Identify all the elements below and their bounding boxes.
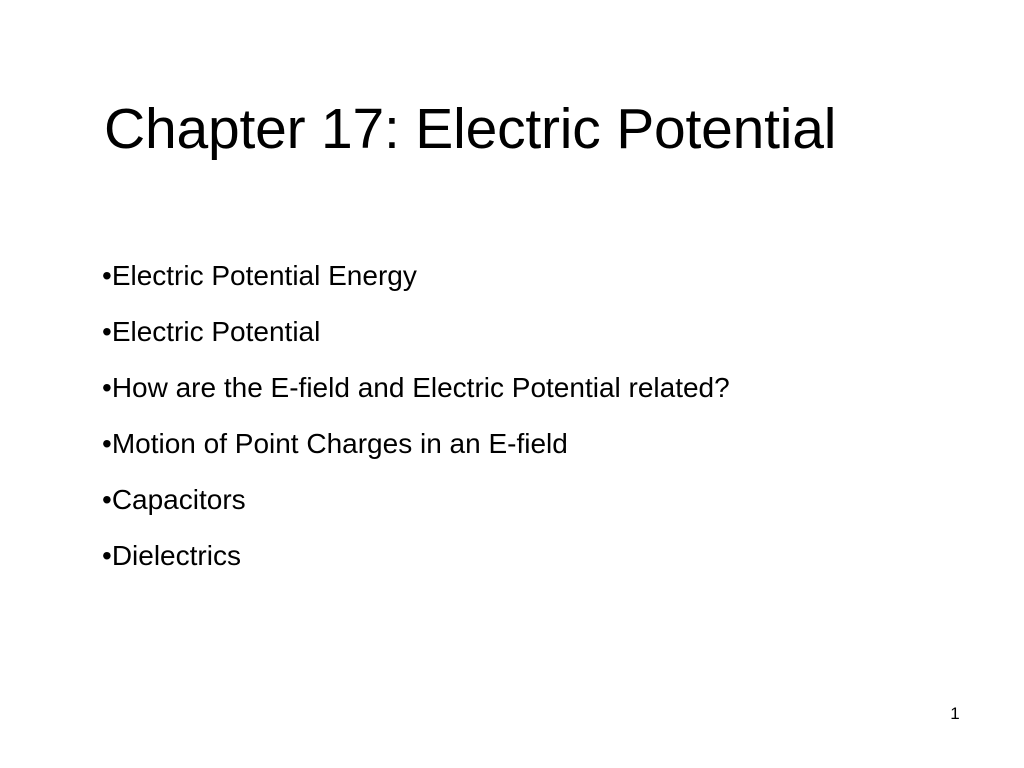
bullet-point-icon: • (102, 484, 112, 515)
list-item: •Electric Potential Energy (102, 262, 902, 290)
presentation-slide: Chapter 17: Electric Potential •Electric… (0, 0, 1024, 768)
list-item: •Motion of Point Charges in an E-field (102, 430, 902, 458)
bullet-point-icon: • (102, 372, 112, 403)
list-item-label: How are the E-field and Electric Potenti… (112, 372, 730, 403)
list-item: •How are the E-field and Electric Potent… (102, 374, 902, 402)
list-item-label: Dielectrics (112, 540, 241, 571)
bullet-point-icon: • (102, 428, 112, 459)
list-item: •Electric Potential (102, 318, 902, 346)
bullet-point-icon: • (102, 316, 112, 347)
list-item-label: Electric Potential (112, 316, 321, 347)
list-item: •Dielectrics (102, 542, 902, 570)
list-item-label: Electric Potential Energy (112, 260, 417, 291)
bullet-list: •Electric Potential Energy •Electric Pot… (102, 262, 902, 570)
list-item: •Capacitors (102, 486, 902, 514)
list-item-label: Capacitors (112, 484, 246, 515)
bullet-point-icon: • (102, 260, 112, 291)
page-number: 1 (930, 704, 980, 724)
slide-title: Chapter 17: Electric Potential (104, 100, 964, 158)
bullet-point-icon: • (102, 540, 112, 571)
list-item-label: Motion of Point Charges in an E-field (112, 428, 568, 459)
